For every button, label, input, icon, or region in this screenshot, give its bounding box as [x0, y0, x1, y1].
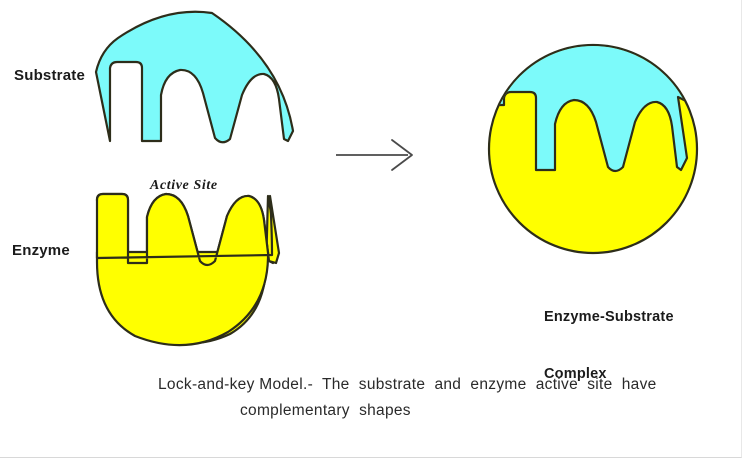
- enzyme-label: Enzyme: [12, 242, 70, 259]
- enzyme-shape-group: [97, 194, 279, 345]
- enzyme-teeth-outline: [97, 194, 279, 265]
- complex-label-line-1: Enzyme-Substrate: [544, 308, 674, 327]
- reaction-arrow: [336, 140, 412, 170]
- substrate-shape-group: [96, 12, 293, 143]
- substrate-label: Substrate: [14, 67, 85, 84]
- complex-shape-group: [489, 30, 700, 253]
- caption-line-1: Lock-and-key Model.- The substrate and e…: [100, 372, 660, 398]
- caption-line-2: complementary shapes: [100, 398, 660, 424]
- enzyme-bowl-body: [97, 252, 268, 345]
- figure-caption: Lock-and-key Model.- The substrate and e…: [100, 372, 660, 424]
- diagram-canvas: Substrate Enzyme Active Site Enzyme-Subs…: [0, 0, 742, 458]
- active-site-label: Active Site: [150, 178, 218, 194]
- substrate-shape: [96, 12, 293, 143]
